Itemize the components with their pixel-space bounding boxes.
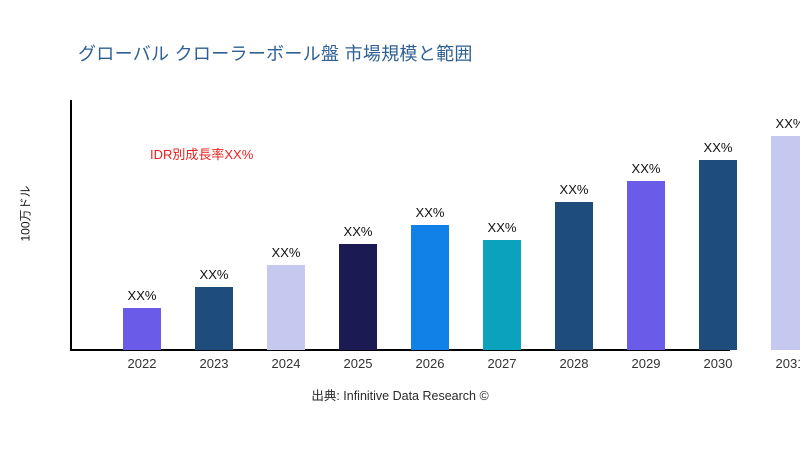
- bar-group-2029[interactable]: XX%: [610, 100, 682, 350]
- x-tick-2025: 2025: [322, 356, 394, 371]
- x-tick-2029: 2029: [610, 356, 682, 371]
- bar-group-2028[interactable]: XX%: [538, 100, 610, 350]
- bar-group-2024[interactable]: XX%: [250, 100, 322, 350]
- bar-value-label: XX%: [272, 245, 301, 260]
- x-tick-2031: 2031: [754, 356, 800, 371]
- bar-2027[interactable]: [483, 240, 521, 350]
- bar-value-label: XX%: [704, 140, 733, 155]
- bar-value-label: XX%: [776, 116, 800, 131]
- x-tick-2027: 2027: [466, 356, 538, 371]
- bar-group-2031[interactable]: XX%: [754, 100, 800, 350]
- bar-2031[interactable]: [771, 136, 800, 350]
- bar-group-2027[interactable]: XX%: [466, 100, 538, 350]
- bar-group-2022[interactable]: XX%: [106, 100, 178, 350]
- chart-container: グローバル クローラーボール盤 市場規模と範囲 100万ドル IDR別成長率XX…: [0, 0, 800, 450]
- x-tick-2026: 2026: [394, 356, 466, 371]
- bar-value-label: XX%: [416, 205, 445, 220]
- y-axis-label: 100万ドル: [17, 159, 34, 269]
- x-tick-2030: 2030: [682, 356, 754, 371]
- bar-value-label: XX%: [632, 161, 661, 176]
- plot-area: XX%XX%XX%XX%XX%XX%XX%XX%XX%XX%: [70, 100, 780, 350]
- bar-2023[interactable]: [195, 287, 233, 350]
- page-title: グローバル クローラーボール盤 市場規模と範囲: [78, 40, 473, 66]
- bar-value-label: XX%: [488, 220, 517, 235]
- bar-2029[interactable]: [627, 181, 665, 350]
- bar-value-label: XX%: [128, 288, 157, 303]
- source-note: 出典: Infinitive Data Research ©: [0, 385, 800, 404]
- x-tick-2024: 2024: [250, 356, 322, 371]
- bar-2030[interactable]: [699, 160, 737, 350]
- bar-value-label: XX%: [344, 224, 373, 239]
- bar-value-label: XX%: [560, 182, 589, 197]
- bar-group-2023[interactable]: XX%: [178, 100, 250, 350]
- bar-group-2030[interactable]: XX%: [682, 100, 754, 350]
- bar-group-2026[interactable]: XX%: [394, 100, 466, 350]
- bar-2022[interactable]: [123, 308, 161, 350]
- bar-2026[interactable]: [411, 225, 449, 350]
- x-tick-2023: 2023: [178, 356, 250, 371]
- bar-2025[interactable]: [339, 244, 377, 350]
- bar-value-label: XX%: [200, 267, 229, 282]
- x-tick-2028: 2028: [538, 356, 610, 371]
- bar-2024[interactable]: [267, 265, 305, 350]
- bar-2028[interactable]: [555, 202, 593, 350]
- bar-group-2025[interactable]: XX%: [322, 100, 394, 350]
- x-tick-2022: 2022: [106, 356, 178, 371]
